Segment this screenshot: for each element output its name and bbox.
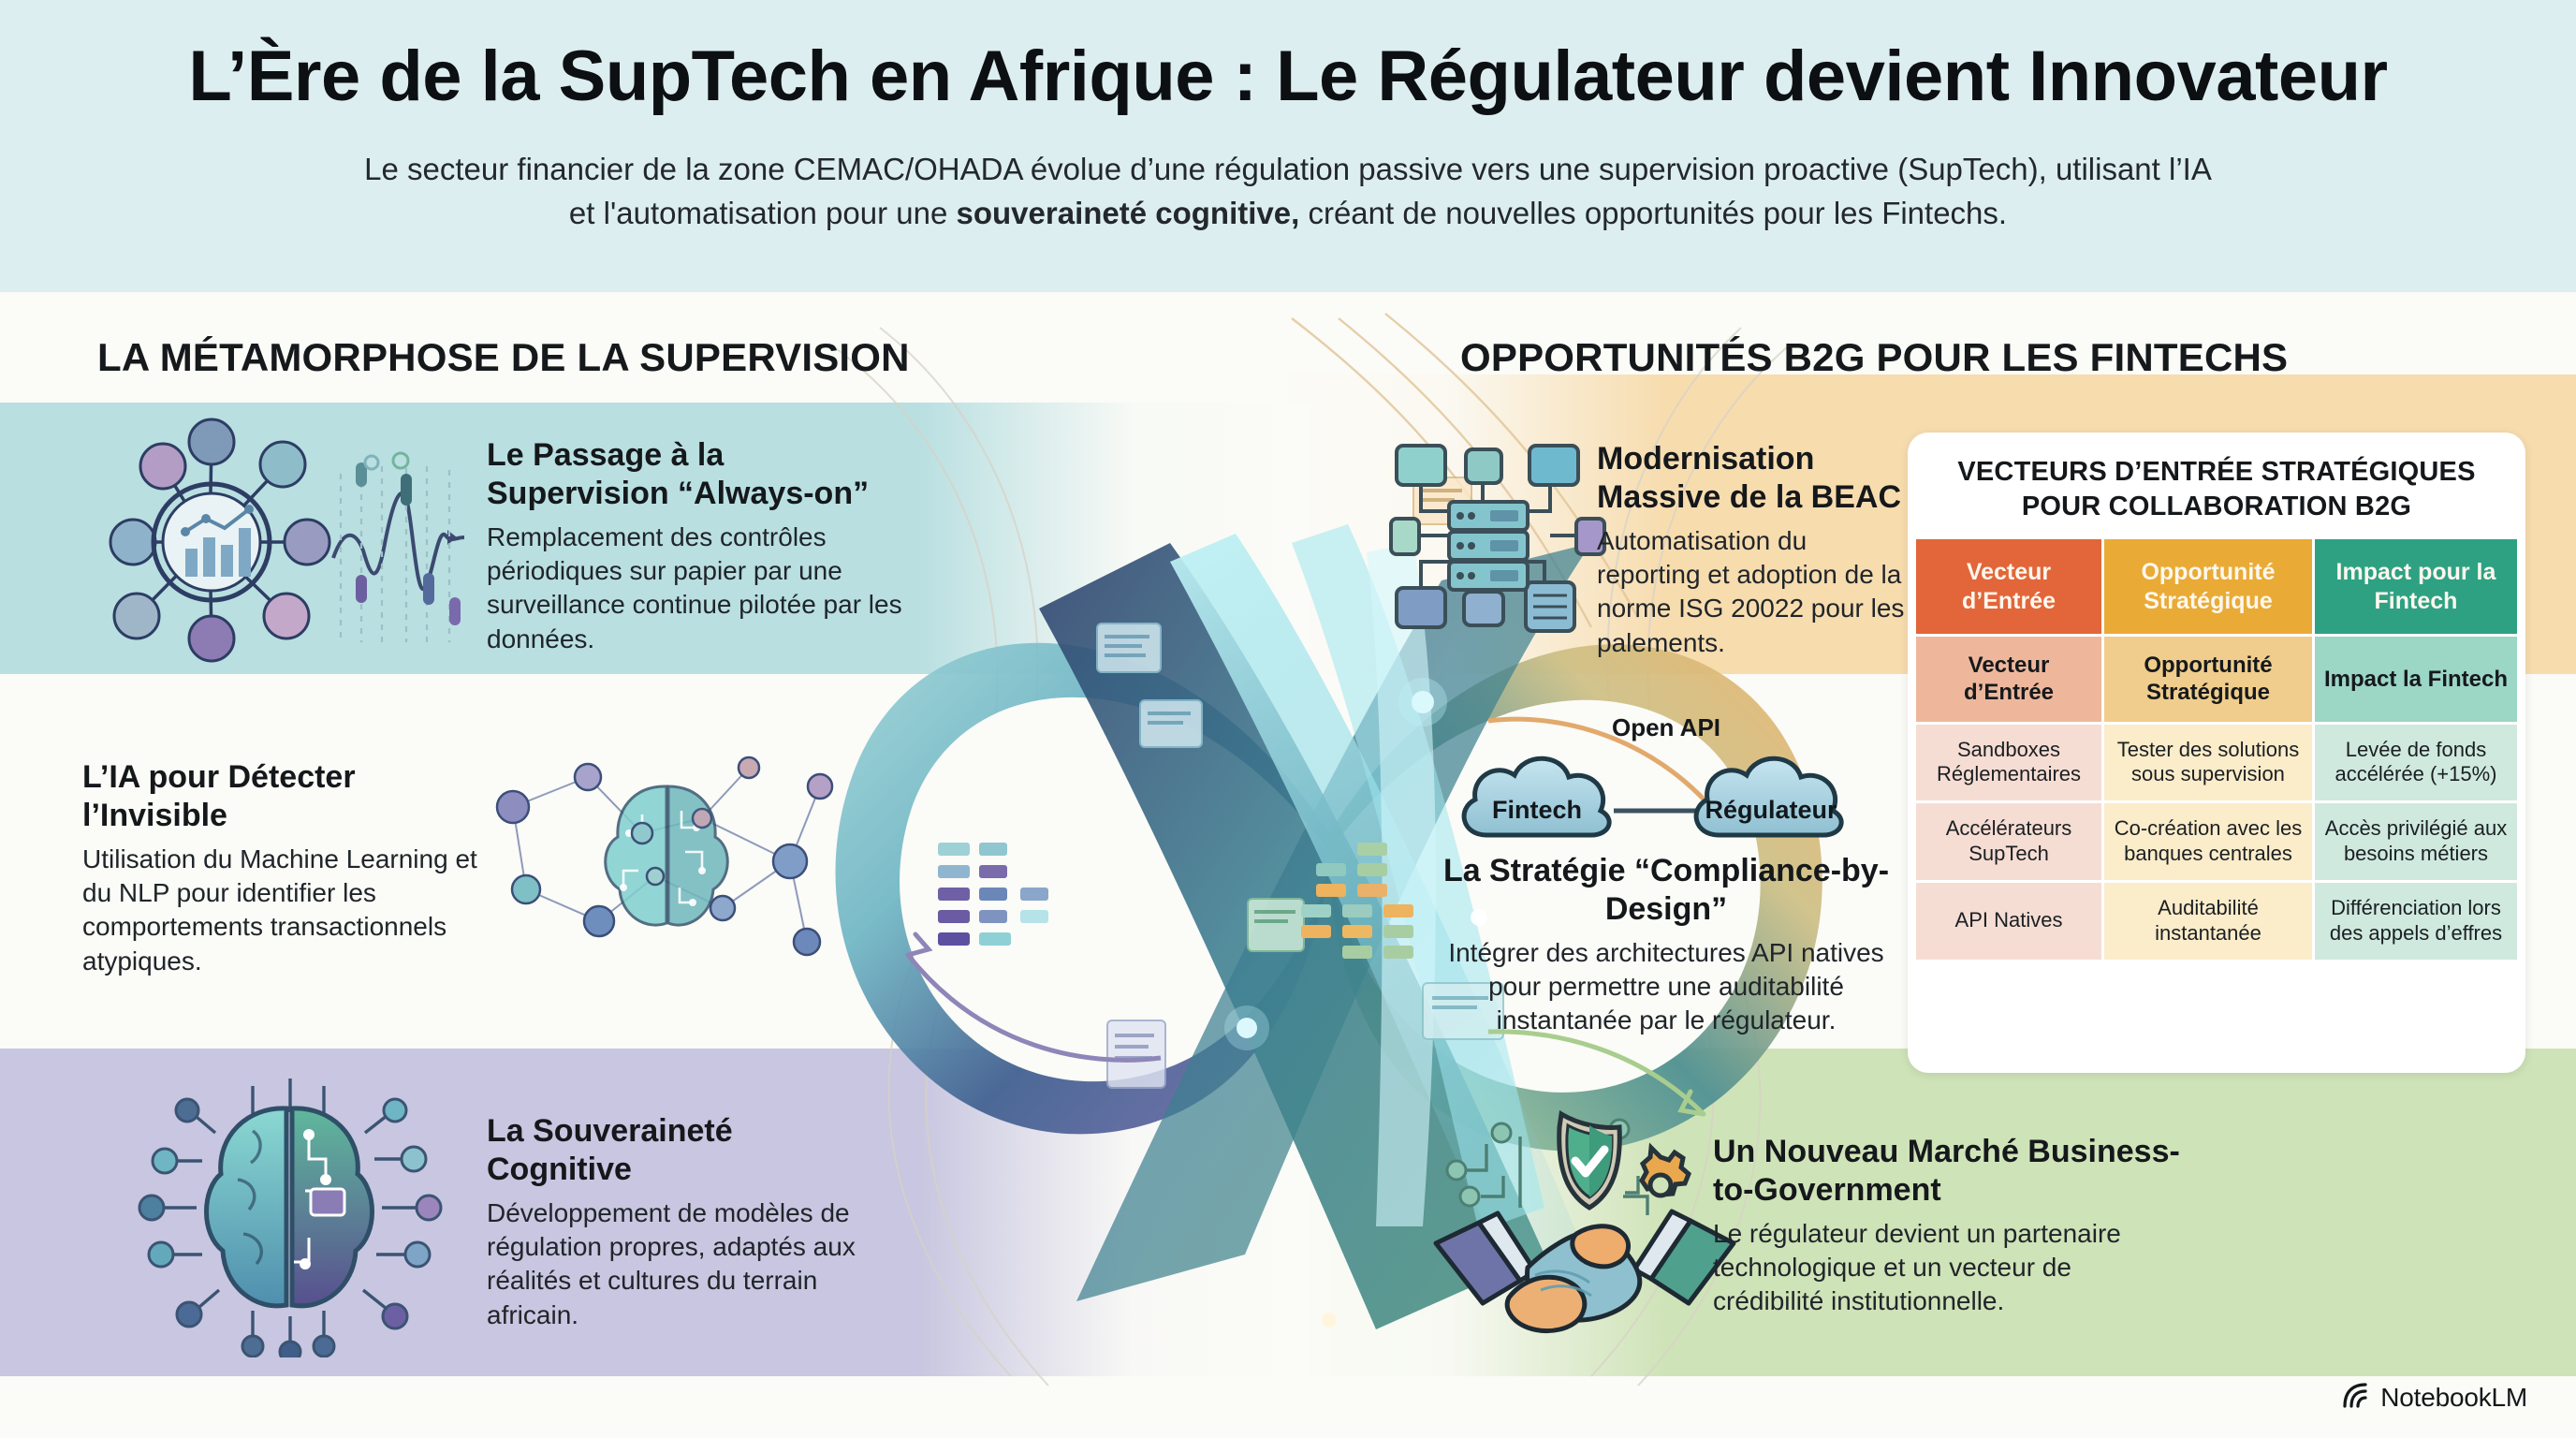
table-row: API Natives Auditabilité instantanée Dif… — [1916, 883, 2517, 960]
cloud-node-regulateur-label: Régulateur — [1705, 796, 1837, 824]
table-cell-opportunite: Tester des solutions sous supervision — [2104, 725, 2312, 801]
block-beac-body: Automatisation du reporting et adoption … — [1597, 524, 1906, 661]
page-subtitle: Le secteur financier de la zone CEMAC/OH… — [352, 148, 2224, 236]
block-beac-title: Modernisation Massive de la BEAC — [1597, 440, 1906, 517]
table-header-opportunite: Opportunité Stratégique — [2104, 539, 2312, 634]
block-ia-invisible-title: L’IA pour Détecter l’Invisible — [82, 758, 494, 835]
notebooklm-branding: NotebookLM — [2341, 1381, 2527, 1414]
notebooklm-logo-icon — [2341, 1381, 2371, 1414]
data-blocks-right-decoration — [1301, 843, 1442, 983]
block-b2g-title: Un Nouveau Marché Business-to-Government — [1713, 1133, 2181, 1210]
block-compliance-title: La Stratégie “Compliance-by-Design” — [1432, 852, 1900, 929]
block-ia-invisible-body: Utilisation du Machine Learning et du NL… — [82, 843, 494, 979]
subtitle-part-2: créant de nouvelles opportunités pour le… — [1299, 196, 2007, 230]
table-cell-vecteur: Accélérateurs SupTech — [1916, 803, 2101, 880]
block-always-on-body: Remplacement des contrôles périodiques s… — [487, 521, 908, 657]
block-souverainete-title: La Souveraineté Cognitive — [487, 1112, 880, 1189]
table-subheader-opportunite: Opportunité Stratégique — [2104, 637, 2312, 722]
cognitive-brain-icon — [112, 1077, 468, 1357]
strategic-vectors-card: VECTEURS D’ENTRÉE STRATÉGIQUES POUR COLL… — [1908, 433, 2525, 1073]
block-business-to-government: Un Nouveau Marché Business-to-Government… — [1713, 1133, 2181, 1319]
strategic-vectors-table: Vecteur d’Entrée Opportunité Stratégique… — [1908, 536, 2525, 972]
cloud-node-fintech-label: Fintech — [1492, 796, 1582, 824]
ai-brain-network-icon — [468, 721, 861, 1002]
block-souverainete-body: Développement de modèles de régulation p… — [487, 1196, 880, 1333]
table-row: Accélérateurs SupTech Co-création avec l… — [1916, 803, 2517, 880]
table-title: VECTEURS D’ENTRÉE STRATÉGIQUES POUR COLL… — [1908, 433, 2525, 536]
table-row: Sandboxes Réglementaires Tester des solu… — [1916, 725, 2517, 801]
table-header-vecteur: Vecteur d’Entrée — [1916, 539, 2101, 634]
section-heading-right: OPPORTUNITÉS B2G POUR LES FINTECHS — [1460, 335, 2288, 380]
subtitle-emphasis: souveraineté cognitive, — [957, 196, 1300, 230]
table-header-impact: Impact pour la Fintech — [2315, 539, 2517, 634]
partnership-handshake-icon — [1430, 1103, 1739, 1363]
block-always-on-title: Le Passage à la Supervision “Always-on” — [487, 436, 908, 513]
server-network-icon — [1383, 414, 1617, 655]
table-subheader-impact: Impact la Fintech — [2315, 637, 2517, 722]
table-cell-vecteur: Sandboxes Réglementaires — [1916, 725, 2101, 801]
table-cell-vecteur: API Natives — [1916, 883, 2101, 960]
table-cell-impact: Accès privilégié aux besoins métiers — [2315, 803, 2517, 880]
table-header-primary: Vecteur d’Entrée Opportunité Stratégique… — [1916, 539, 2517, 634]
block-beac-modernisation: Modernisation Massive de la BEAC Automat… — [1597, 440, 1906, 660]
page-title: L’Ère de la SupTech en Afrique : Le Régu… — [0, 36, 2576, 117]
notebooklm-wordmark: NotebookLM — [2380, 1383, 2527, 1413]
section-heading-left: LA MÉTAMORPHOSE DE LA SUPERVISION — [97, 335, 910, 380]
table-cell-impact: Levée de fonds accélérée (+15%) — [2315, 725, 2517, 801]
infographic-canvas: L’Ère de la SupTech en Afrique : Le Régu… — [0, 0, 2576, 1438]
header-banner: L’Ère de la SupTech en Afrique : Le Régu… — [0, 0, 2576, 292]
table-cell-opportunite: Auditabilité instantanée — [2104, 883, 2312, 960]
table-header-secondary: Vecteur d’Entrée Opportunité Stratégique… — [1916, 637, 2517, 722]
block-ia-invisible: L’IA pour Détecter l’Invisible Utilisati… — [82, 758, 494, 978]
block-always-on: Le Passage à la Supervision “Always-on” … — [487, 436, 908, 656]
network-analytics-icon — [79, 408, 472, 676]
block-compliance-body: Intégrer des architectures API natives p… — [1432, 936, 1900, 1038]
data-blocks-left-decoration — [938, 843, 1078, 992]
table-cell-impact: Différenciation lors des appels d’effres — [2315, 883, 2517, 960]
table-cell-opportunite: Co-création avec les banques centrales — [2104, 803, 2312, 880]
block-compliance-by-design: La Stratégie “Compliance-by-Design” Inté… — [1432, 852, 1900, 1038]
block-b2g-body: Le régulateur devient un partenaire tech… — [1713, 1217, 2181, 1319]
table-subheader-vecteur: Vecteur d’Entrée — [1916, 637, 2101, 722]
block-souverainete-cognitive: La Souveraineté Cognitive Développement … — [487, 1112, 880, 1332]
